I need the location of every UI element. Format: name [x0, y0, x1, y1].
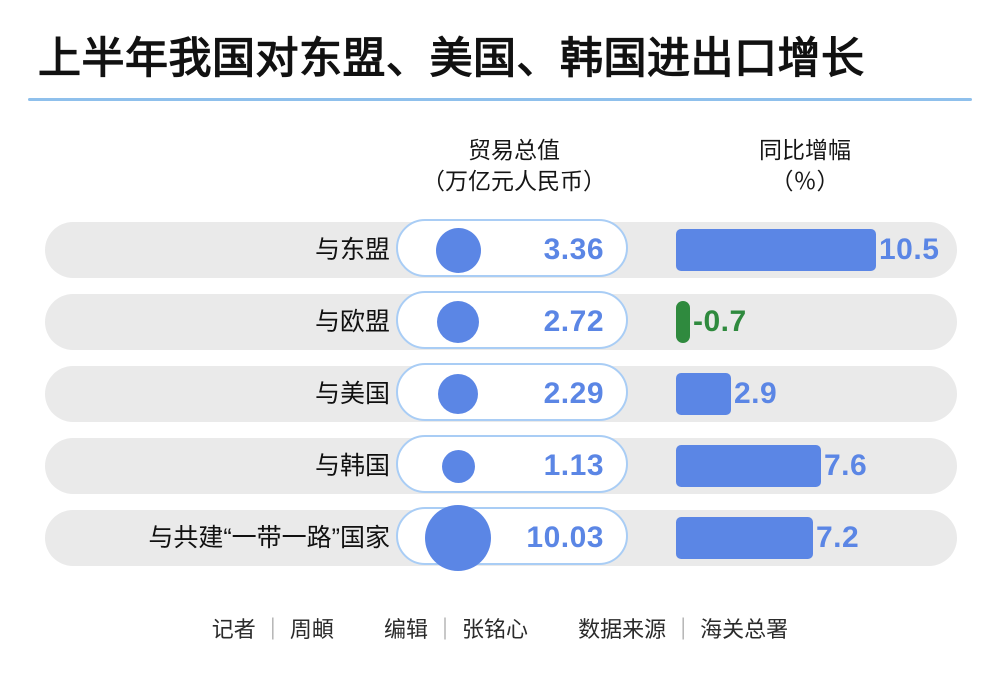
growth-value-label: 7.2	[816, 521, 859, 555]
trade-value-card: 3.36	[396, 219, 628, 277]
data-rows: 与东盟3.3610.5与欧盟2.72-0.7与美国2.292.9与韩国1.137…	[0, 218, 1000, 578]
row-label: 与美国	[40, 366, 390, 422]
growth-bar-zone: 7.6	[676, 438, 867, 494]
growth-value-label: 2.9	[734, 377, 777, 411]
credit-reporter-label: 记者	[212, 617, 256, 642]
growth-bar	[676, 373, 731, 415]
credit-reporter: 记者｜周頔	[212, 612, 334, 644]
column-header-trade-value-line1: 贸易总值	[468, 137, 560, 163]
credit-source: 数据来源｜海关总署	[578, 612, 788, 644]
trade-value-card: 2.72	[396, 291, 628, 349]
credit-source-name: 海关总署	[700, 617, 788, 642]
table-row: 与韩国1.137.6	[0, 434, 1000, 506]
credit-separator: ｜	[434, 617, 456, 642]
credit-reporter-name: 周頔	[290, 617, 334, 642]
credit-source-label: 数据来源	[578, 617, 666, 642]
credit-separator: ｜	[262, 617, 284, 642]
table-row: 与欧盟2.72-0.7	[0, 290, 1000, 362]
column-header-growth-line1: 同比增幅	[759, 137, 851, 163]
value-bubble-icon	[438, 374, 478, 414]
column-header-trade-value-line2: （万亿元人民币）	[395, 166, 633, 197]
bubble-container	[410, 365, 506, 423]
growth-bar-zone: 2.9	[676, 366, 777, 422]
trade-value-number: 2.29	[544, 365, 604, 423]
table-row: 与美国2.292.9	[0, 362, 1000, 434]
growth-value-label: 10.5	[879, 233, 939, 267]
growth-bar	[676, 517, 813, 559]
trade-value-card: 1.13	[396, 435, 628, 493]
table-row: 与共建“一带一路”国家10.037.2	[0, 506, 1000, 578]
value-bubble-icon	[436, 228, 481, 273]
growth-bar	[676, 445, 821, 487]
trade-value-number: 2.72	[544, 293, 604, 351]
trade-value-card: 10.03	[396, 507, 628, 565]
trade-value-card: 2.29	[396, 363, 628, 421]
bubble-container	[410, 437, 506, 495]
table-row: 与东盟3.3610.5	[0, 218, 1000, 290]
growth-bar-zone: 7.2	[676, 510, 859, 566]
row-label: 与欧盟	[40, 294, 390, 350]
credit-editor-label: 编辑	[384, 617, 428, 642]
column-header-trade-value: 贸易总值 （万亿元人民币）	[395, 135, 633, 196]
growth-bar	[676, 229, 876, 271]
bubble-container	[410, 509, 506, 567]
bubble-container	[410, 293, 506, 351]
column-header-growth: 同比增幅 （％）	[690, 135, 920, 196]
trade-value-number: 3.36	[544, 221, 604, 279]
credit-editor-name: 张铭心	[462, 617, 528, 642]
title-divider	[28, 98, 972, 101]
trade-value-number: 10.03	[526, 509, 604, 567]
footer-credits: 记者｜周頔 编辑｜张铭心 数据来源｜海关总署	[0, 612, 1000, 644]
row-label: 与东盟	[40, 222, 390, 278]
credit-editor: 编辑｜张铭心	[384, 612, 528, 644]
growth-value-label: 7.6	[824, 449, 867, 483]
bubble-container	[410, 221, 506, 279]
row-label: 与共建“一带一路”国家	[40, 510, 390, 566]
infographic-page: 上半年我国对东盟、美国、韩国进出口增长 贸易总值 （万亿元人民币） 同比增幅 （…	[0, 0, 1000, 694]
growth-value-label: -0.7	[693, 305, 747, 339]
credit-separator: ｜	[672, 617, 694, 642]
value-bubble-icon	[437, 301, 479, 343]
value-bubble-icon	[425, 505, 491, 571]
trade-value-number: 1.13	[544, 437, 604, 495]
column-header-growth-line2: （％）	[690, 166, 920, 197]
growth-bar-zone: -0.7	[676, 294, 747, 350]
value-bubble-icon	[442, 450, 475, 483]
growth-bar-zone: 10.5	[676, 222, 939, 278]
row-label: 与韩国	[40, 438, 390, 494]
page-title: 上半年我国对东盟、美国、韩国进出口增长	[38, 24, 865, 86]
growth-bar	[676, 301, 690, 343]
